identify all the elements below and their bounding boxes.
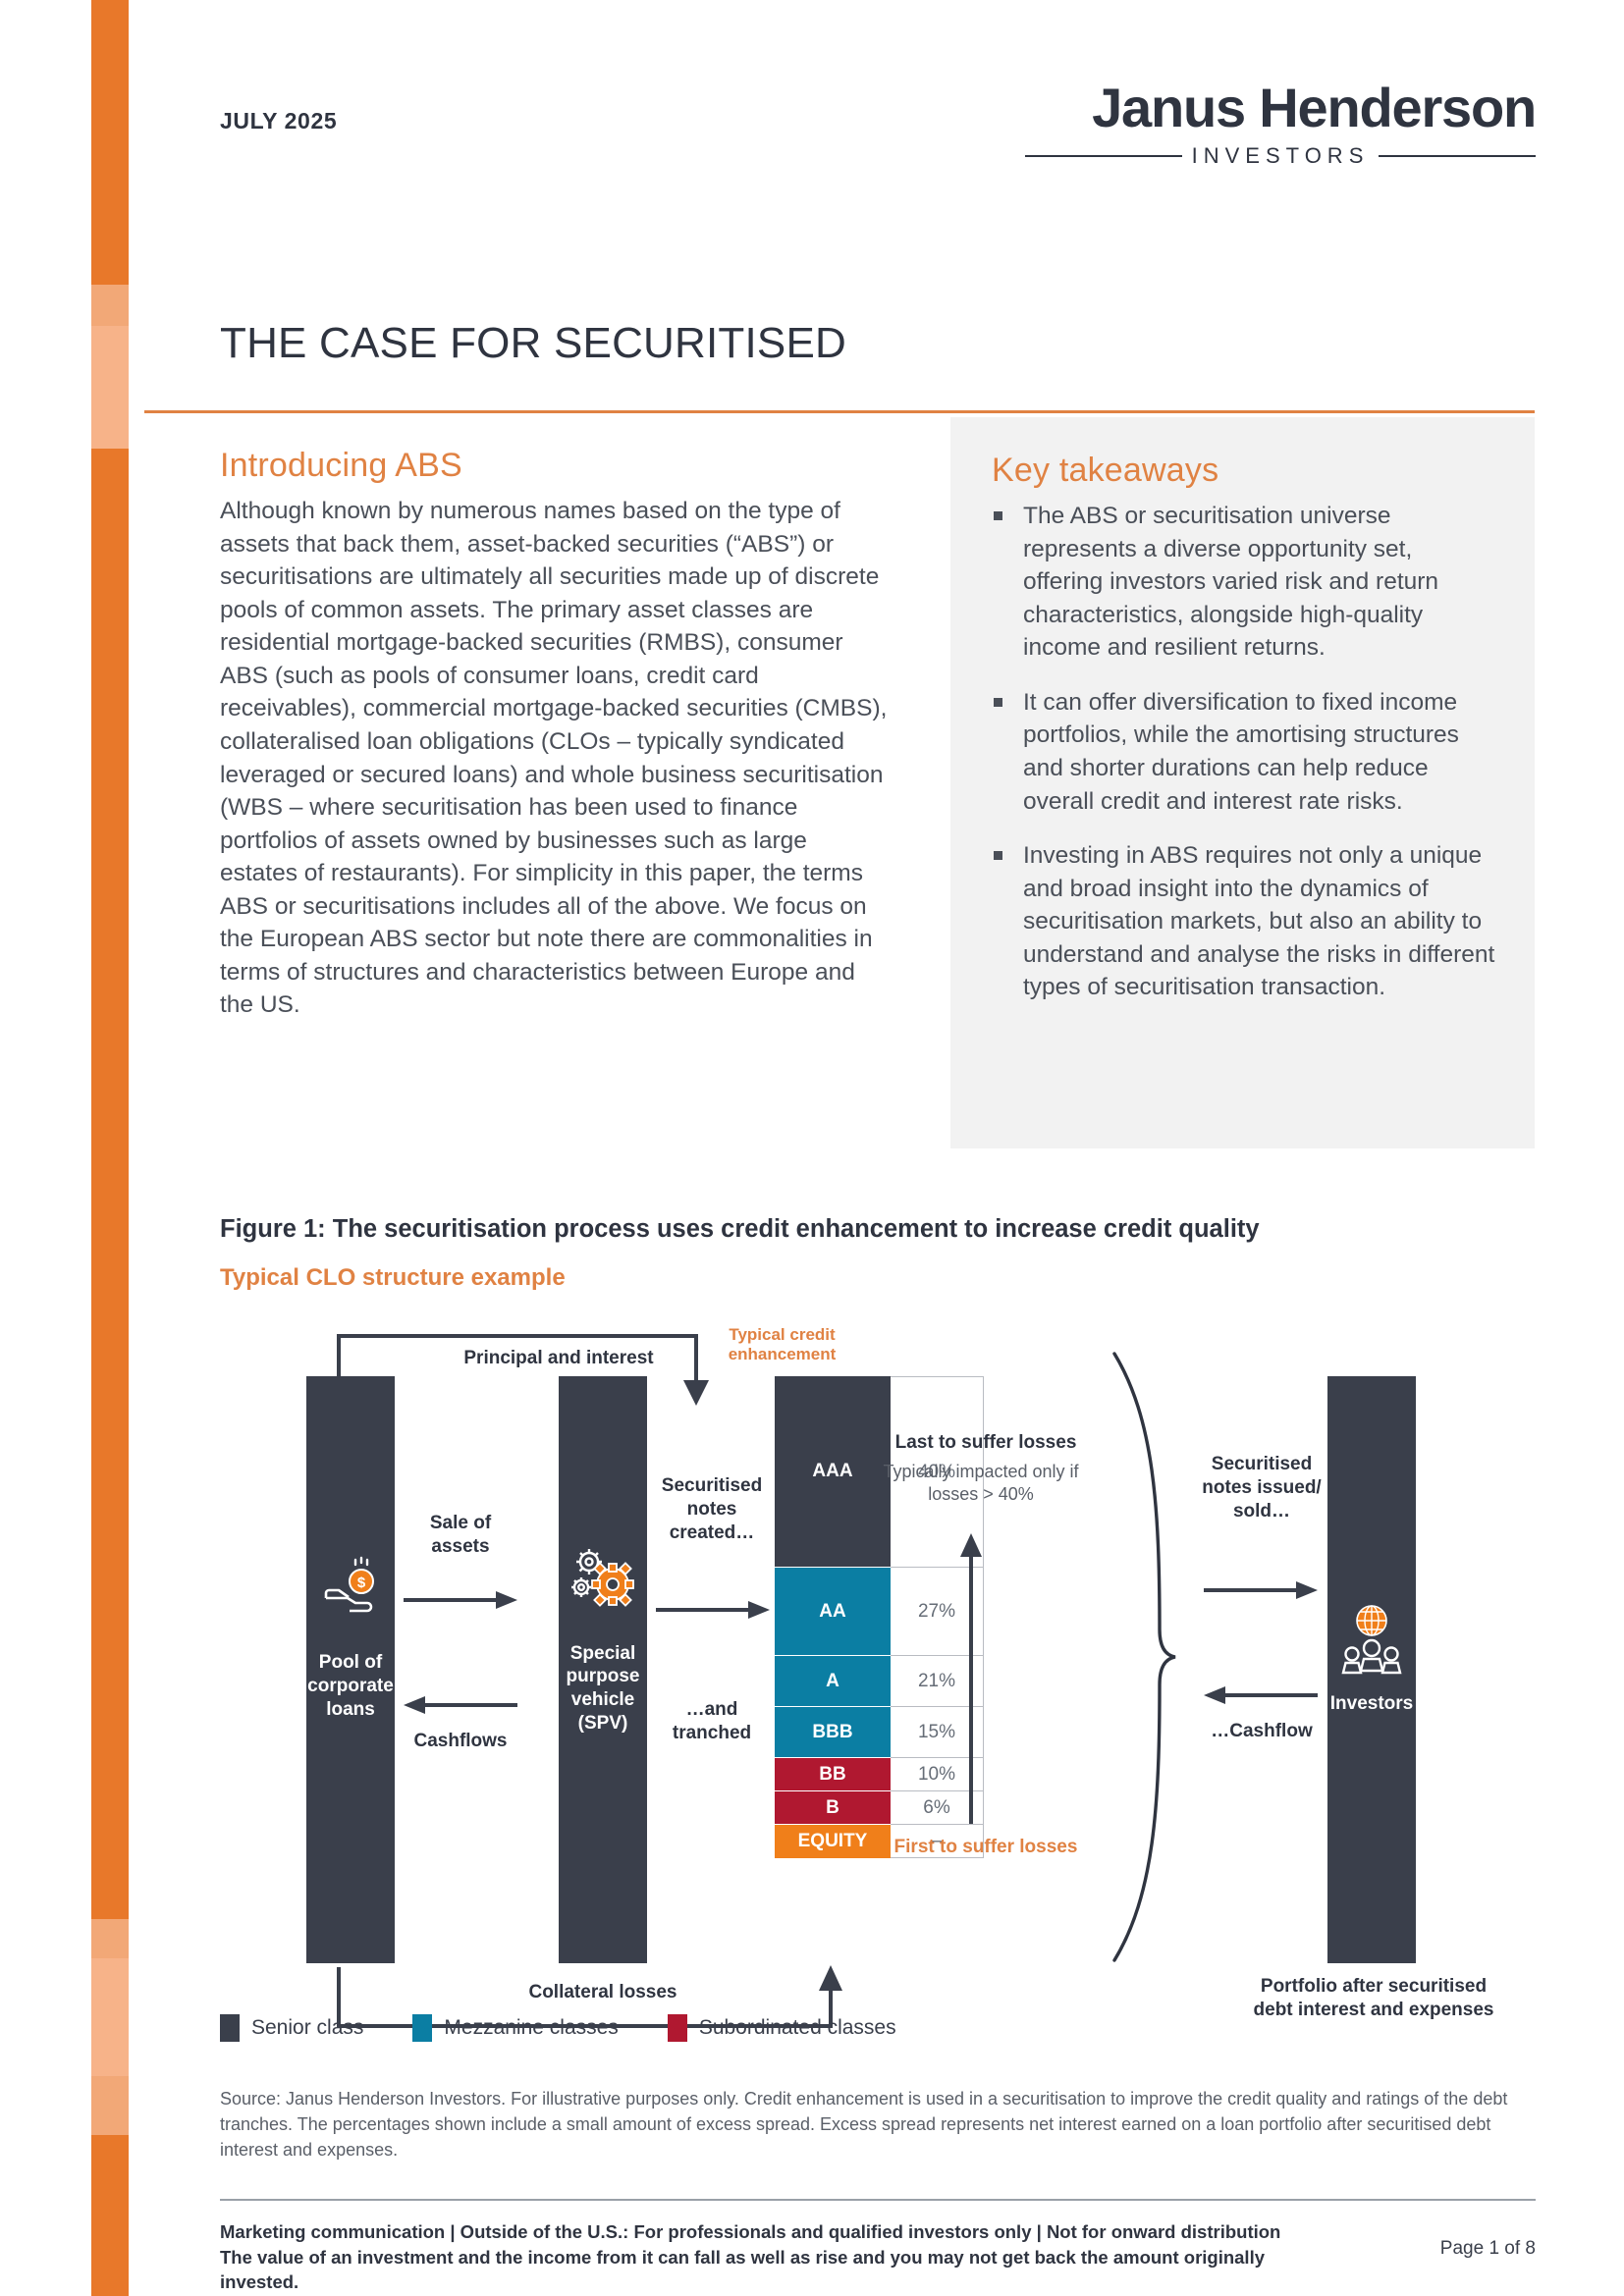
legend-label: Mezzanine classes — [444, 2016, 618, 2040]
collateral-losses-label: Collateral losses — [460, 1981, 745, 2004]
figure-title: Figure 1: The securitisation process use… — [220, 1215, 1260, 1244]
svg-text:$: $ — [357, 1575, 366, 1591]
first-to-suffer-losses-label: First to suffer losses — [873, 1836, 1099, 1859]
global-investors-icon — [1341, 1604, 1402, 1677]
page-title: THE CASE FOR SECURITISED — [220, 319, 846, 368]
gears-icon — [568, 1546, 637, 1607]
last-to-suffer-losses-label: Last to suffer losses — [868, 1431, 1104, 1455]
tranche-name: AA — [775, 1568, 891, 1656]
investors-box: Investors — [1327, 1376, 1416, 1963]
list-item: It can offer diversification to fixed in… — [992, 686, 1497, 818]
list-item: Mezzanine classes — [412, 2014, 618, 2042]
investor-cashflow-arrow — [1202, 1683, 1320, 1707]
principal-interest-label: Principal and interest — [416, 1347, 701, 1370]
clo-structure-diagram: Principal and interest Typical credit en… — [220, 1315, 1536, 2002]
brand-rule-right — [1379, 155, 1536, 157]
special-purpose-vehicle-label: Special purpose vehicle (SPV) — [559, 1642, 647, 1735]
pool-of-corporate-loans-box: $ Pool of corporate loans — [306, 1376, 395, 1963]
legend-swatch-mezzanine — [412, 2014, 432, 2042]
pool-of-corporate-loans-label: Pool of corporate loans — [306, 1651, 395, 1721]
list-item: The ABS or securitisation universe repre… — [992, 500, 1497, 665]
figure-source-note: Source: Janus Henderson Investors. For i… — [220, 2086, 1536, 2163]
footer-disclaimer: Marketing communication | Outside of the… — [220, 2219, 1290, 2295]
and-tranched-label: …and tranched — [652, 1698, 772, 1745]
sale-of-assets-label: Sale of assets — [406, 1512, 514, 1559]
intro-section: Introducing ABS Although known by numero… — [220, 447, 890, 1022]
cashflows-arrow — [402, 1693, 519, 1717]
brand-name: Janus Henderson — [1025, 80, 1536, 135]
intro-body: Although known by numerous names based o… — [220, 495, 890, 1022]
tranche-name: BB — [775, 1758, 891, 1791]
key-takeaways-list: The ABS or securitisation universe repre… — [992, 500, 1497, 1004]
cashflows-label: Cashflows — [406, 1730, 514, 1753]
left-accent-bar — [91, 0, 129, 2296]
intro-heading: Introducing ABS — [220, 447, 890, 485]
brand-logo: Janus Henderson INVESTORS — [1025, 80, 1536, 169]
loss-direction-arrow — [951, 1531, 991, 1826]
investors-label: Investors — [1330, 1692, 1413, 1716]
tranche-name: A — [775, 1656, 891, 1707]
document-page: JULY 2025 Janus Henderson INVESTORS THE … — [0, 0, 1624, 2296]
brand-tagline-row: INVESTORS — [1025, 143, 1536, 169]
special-purpose-vehicle-box: Special purpose vehicle (SPV) — [559, 1376, 647, 1963]
legend-swatch-subordinated — [668, 2014, 687, 2042]
key-takeaways-heading: Key takeaways — [992, 452, 1497, 490]
securitised-notes-created-label: Securitised notes created… — [652, 1474, 772, 1544]
typical-credit-enhancement-label: Typical credit enhancement — [721, 1325, 843, 1365]
legend-swatch-senior — [220, 2014, 240, 2042]
tranching-arrow — [654, 1598, 772, 1622]
title-divider — [144, 410, 1535, 413]
sale-of-assets-arrow — [402, 1588, 519, 1612]
page-number: Page 1 of 8 — [1440, 2238, 1536, 2260]
tranche-name: BBB — [775, 1707, 891, 1758]
tranche-name: B — [775, 1791, 891, 1825]
notes-issued-arrow — [1202, 1578, 1320, 1602]
brand-tagline: INVESTORS — [1192, 143, 1370, 169]
money-hand-icon: $ — [320, 1559, 381, 1616]
figure-subtitle: Typical CLO structure example — [220, 1264, 566, 1292]
typically-impacted-note: Typically impacted only if losses > 40% — [858, 1461, 1104, 1505]
list-item: Investing in ABS requires not only a uni… — [992, 839, 1497, 1004]
cashflow-back-label: …Cashflow — [1202, 1720, 1322, 1743]
legend-label: Senior class — [251, 2016, 363, 2040]
list-item: Senior class — [220, 2014, 363, 2042]
footer-divider — [220, 2199, 1536, 2201]
legend-label: Subordinated classes — [699, 2016, 896, 2040]
document-date: JULY 2025 — [220, 108, 337, 134]
figure-legend: Senior class Mezzanine classes Subordina… — [220, 2014, 896, 2042]
brand-rule-left — [1025, 155, 1182, 157]
securitised-notes-issued-label: Securitised notes issued/ sold… — [1202, 1453, 1322, 1522]
tranche-grouping-brace — [1109, 1350, 1187, 1963]
key-takeaways-panel: Key takeaways The ABS or securitisation … — [950, 417, 1535, 1148]
list-item: Subordinated classes — [668, 2014, 896, 2042]
